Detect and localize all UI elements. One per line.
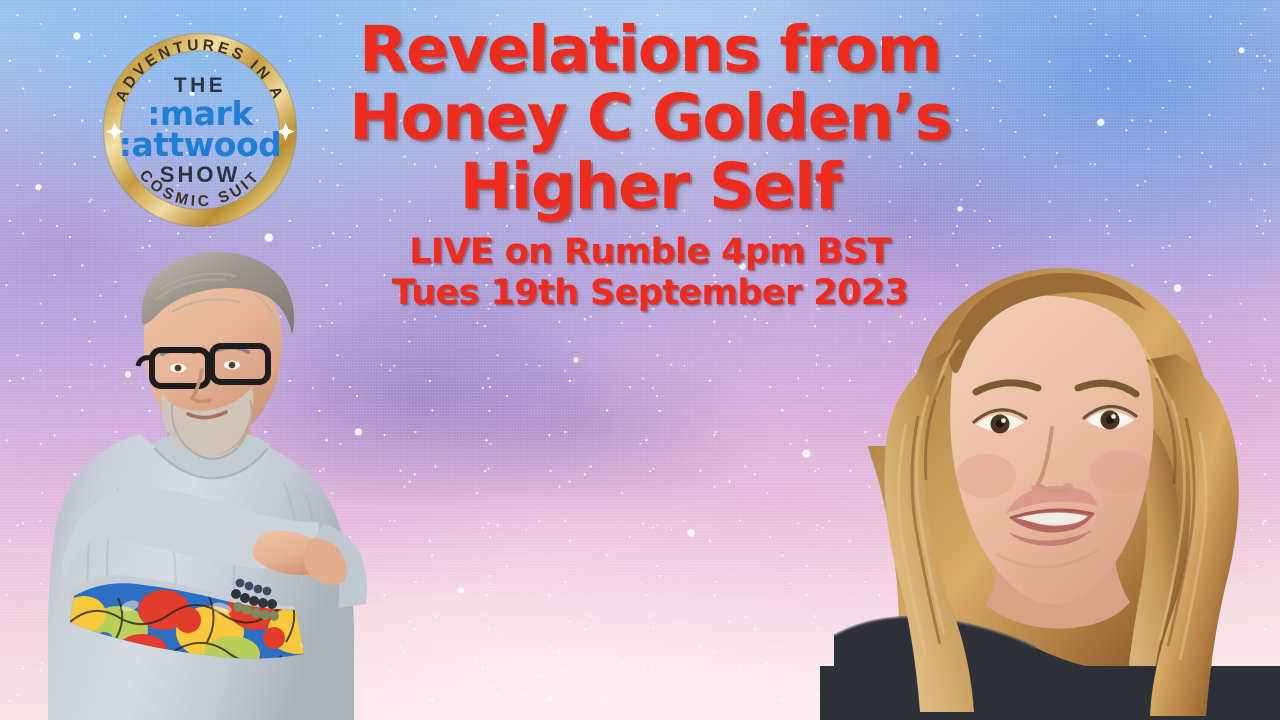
title-line-2: Honey C Golden’s xyxy=(330,86,970,150)
thumbnail-canvas: ADVENTURES IN A COSMIC SUIT THE :mark :a… xyxy=(0,0,1280,720)
logo-arc-top-text: ADVENTURES IN A xyxy=(113,37,288,105)
title-line-1: Revelations from xyxy=(330,18,970,82)
title-line-3: Higher Self xyxy=(330,155,970,219)
show-logo-badge[interactable]: ADVENTURES IN A COSMIC SUIT THE :mark :a… xyxy=(98,28,302,232)
host-head xyxy=(138,252,294,459)
host-photo-cutout xyxy=(22,238,392,720)
guest-photo-cutout xyxy=(820,236,1280,720)
